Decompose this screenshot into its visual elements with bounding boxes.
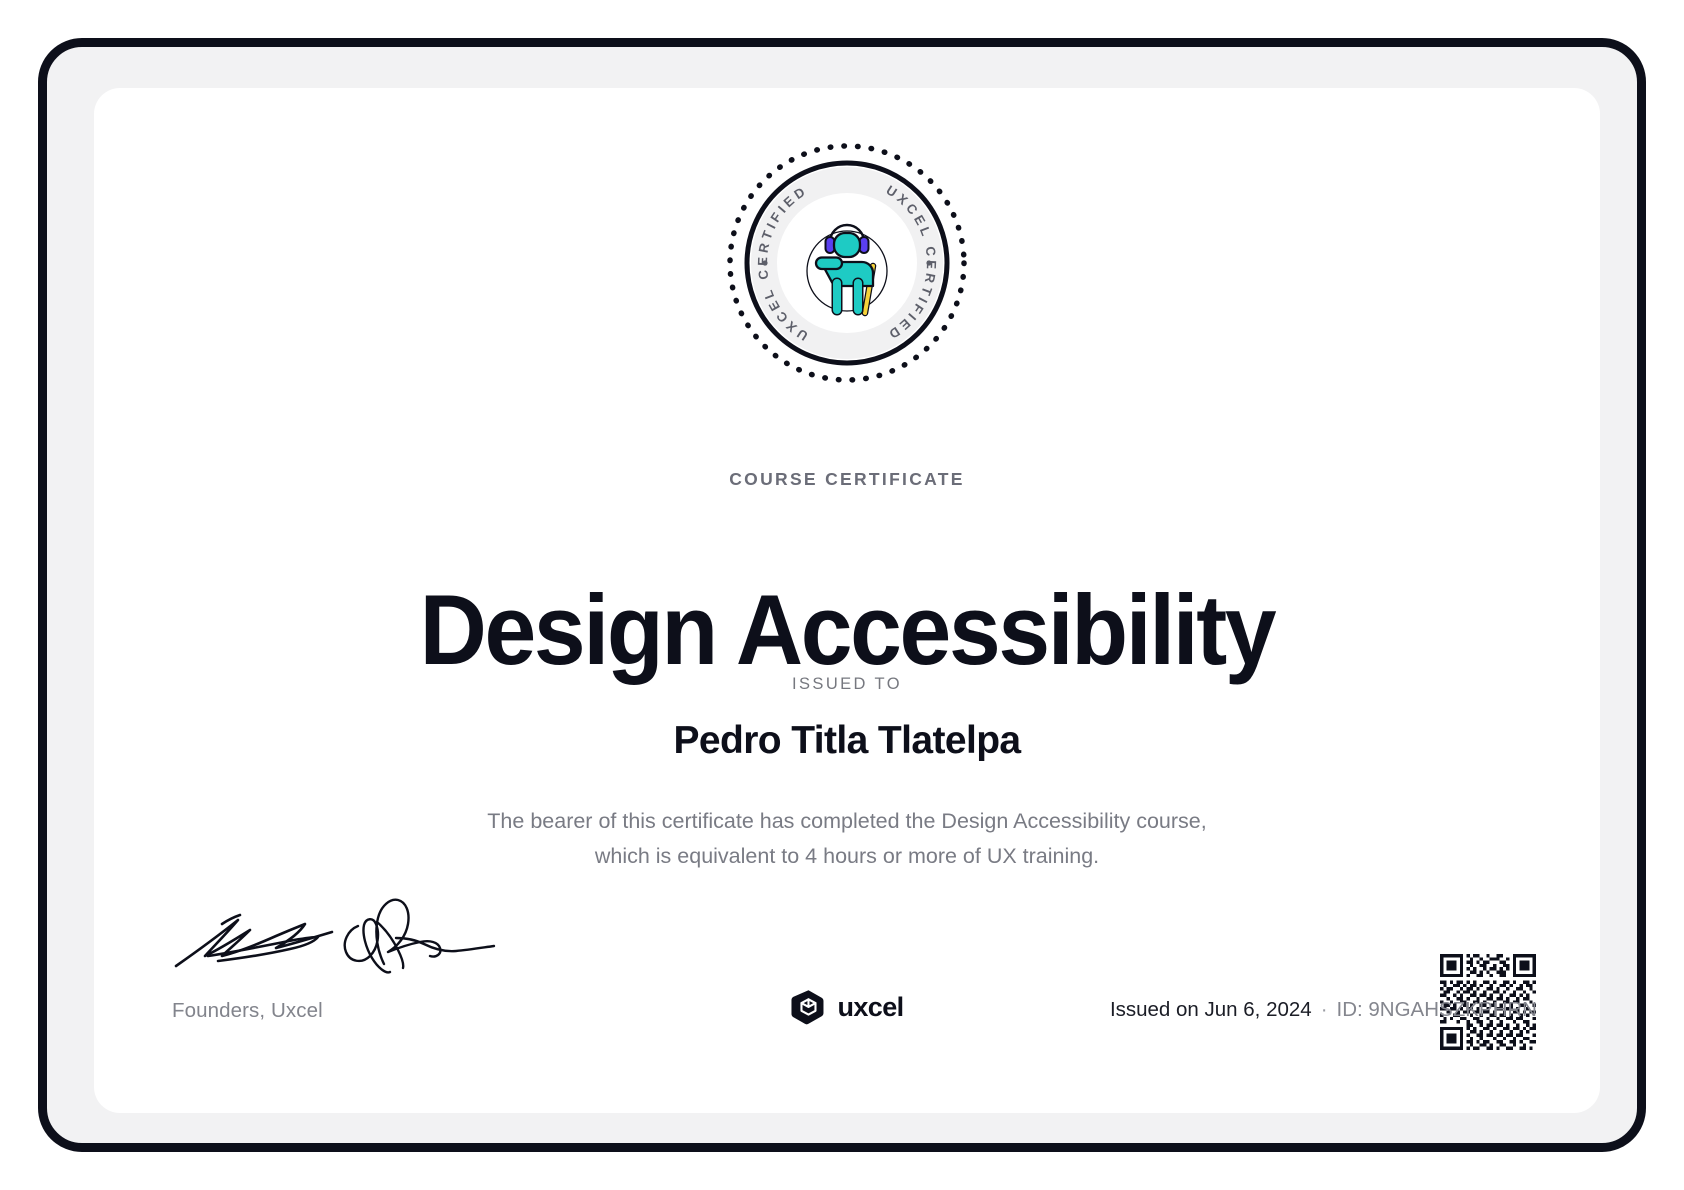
certificate-card: UXCEL CERTIFIED UXCEL CERTIFIED: [94, 88, 1600, 1113]
description-line-1: The bearer of this certificate has compl…: [397, 804, 1297, 839]
uxcel-brand: uxcel: [790, 989, 903, 1025]
uxcel-certified-seal: UXCEL CERTIFIED UXCEL CERTIFIED: [722, 138, 972, 388]
uxcel-cube-logo: [790, 989, 826, 1025]
recipient-name: Pedro Titla Tlatelpa: [94, 719, 1600, 763]
issue-metadata: Issued on Jun 6, 2024·ID: 9NGAHSZKPHRN: [1110, 998, 1537, 1022]
seal-container: UXCEL CERTIFIED UXCEL CERTIFIED: [94, 138, 1600, 388]
issued-on-date: Issued on Jun 6, 2024: [1110, 998, 1312, 1021]
certificate-frame: UXCEL CERTIFIED UXCEL CERTIFIED: [38, 38, 1646, 1152]
uxcel-wordmark: uxcel: [837, 994, 903, 1021]
certificate-id: ID: 9NGAHSZKPHRN: [1337, 998, 1537, 1021]
founder-signature-left: [176, 915, 332, 966]
course-certificate-eyebrow: COURSE CERTIFICATE: [94, 469, 1600, 490]
issued-to-label: ISSUED TO: [94, 675, 1600, 694]
certificate-description: The bearer of this certificate has compl…: [397, 804, 1297, 874]
meta-separator: ·: [1312, 998, 1337, 1021]
description-line-2: which is equivalent to 4 hours or more o…: [397, 839, 1297, 874]
founder-signatures: [172, 894, 502, 980]
founder-signature-right: [345, 900, 494, 973]
founders-label: Founders, Uxcel: [172, 999, 323, 1023]
page-title: Design Accessibility: [139, 578, 1555, 683]
